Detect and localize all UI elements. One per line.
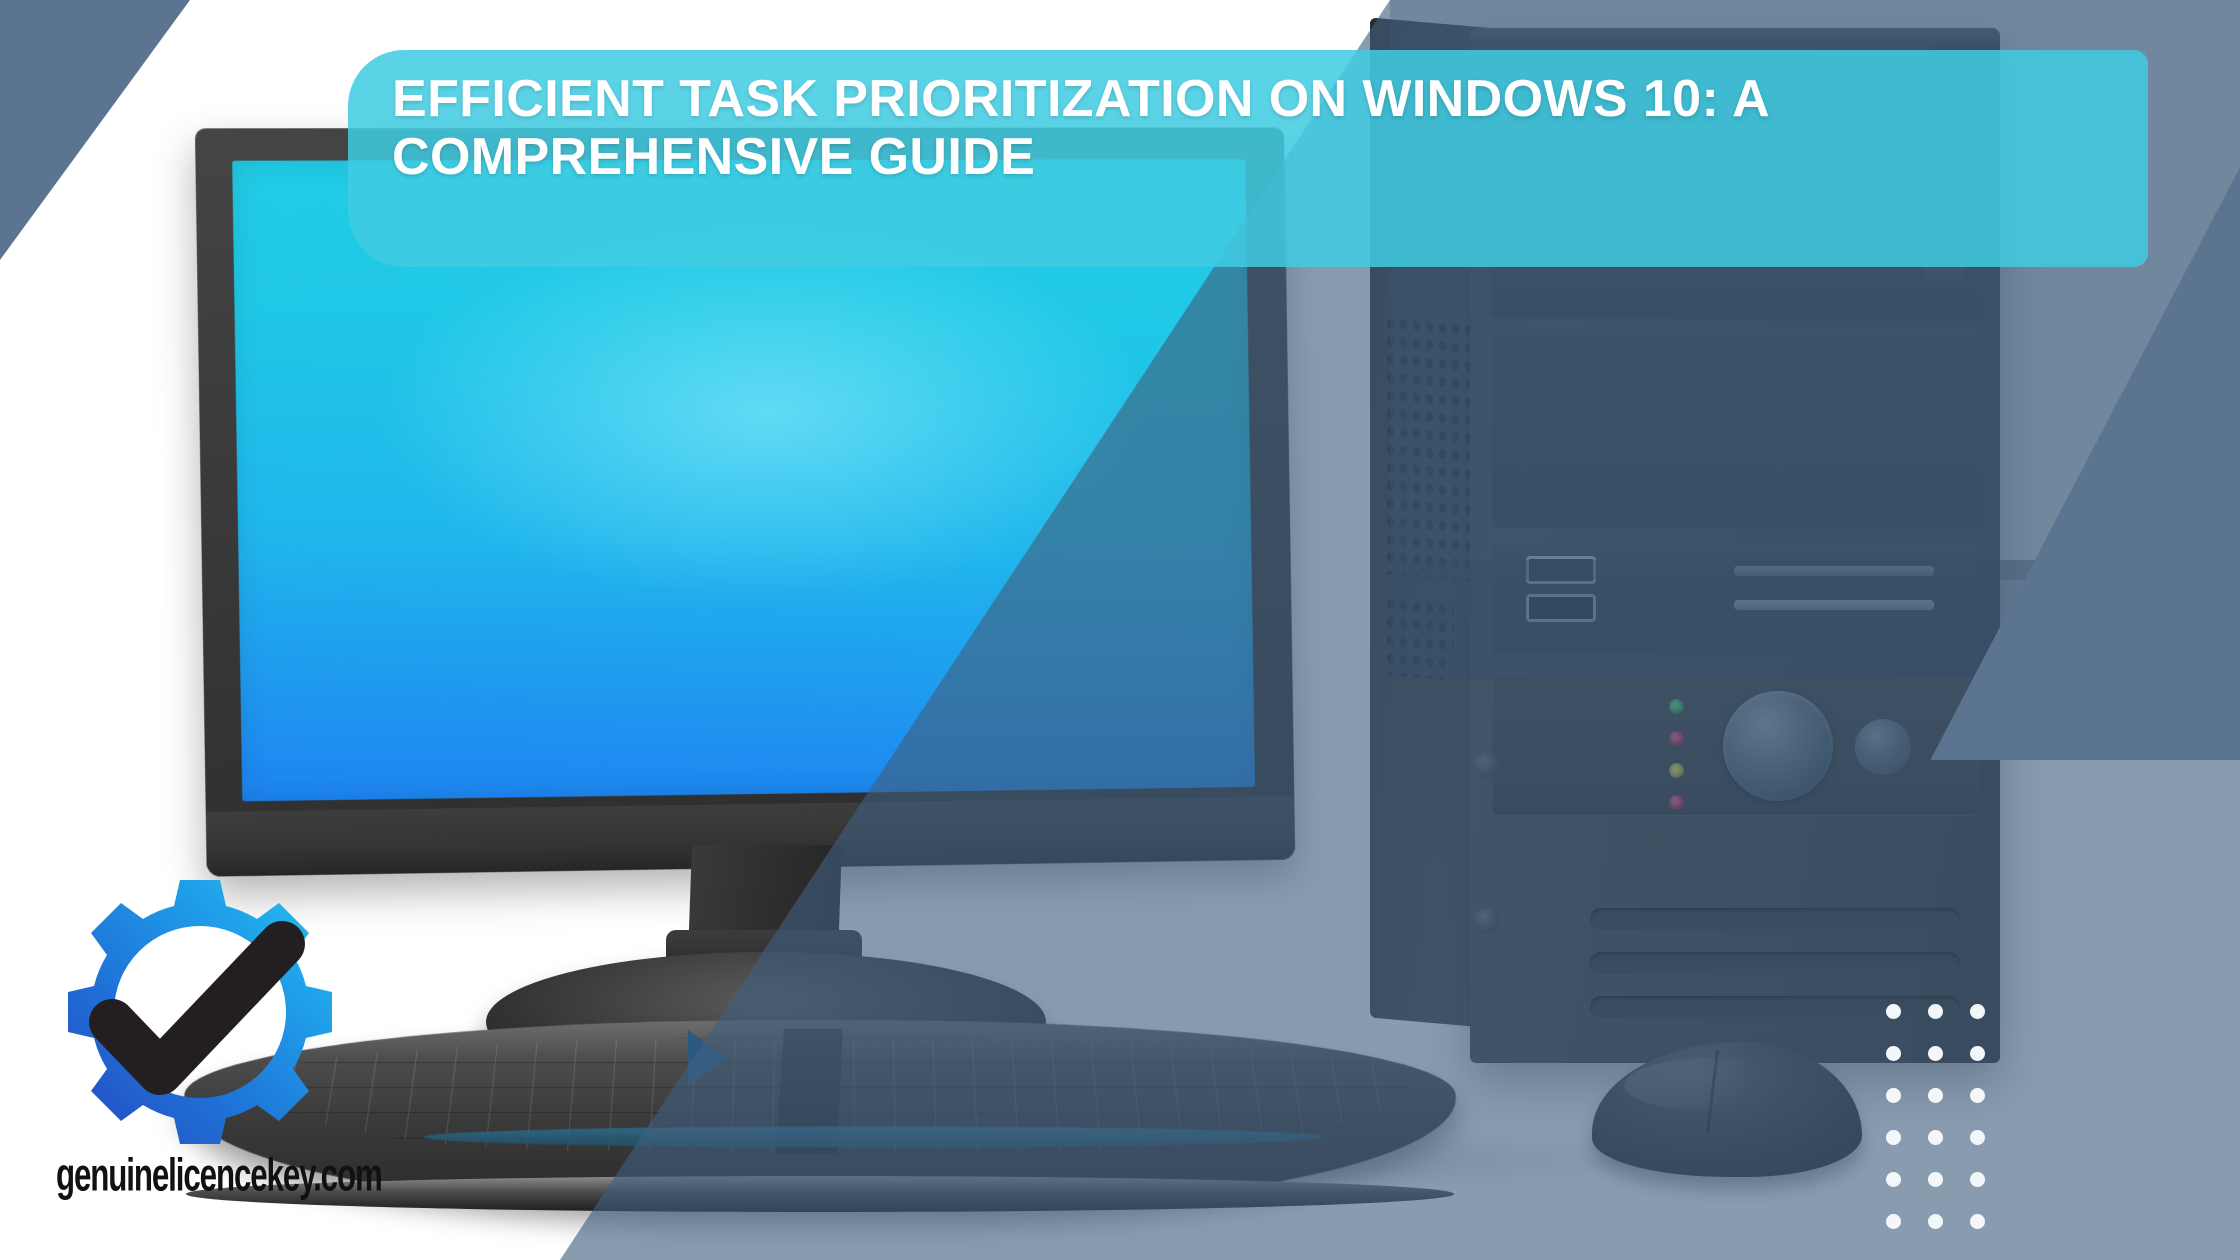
- audio-jack-strip: [1734, 566, 1934, 576]
- tower-vent-mesh-lower: [1384, 595, 1454, 681]
- gear-check-icon: [50, 862, 350, 1162]
- tower-screw: [1474, 752, 1500, 778]
- power-button[interactable]: [1723, 691, 1833, 801]
- tower-io-ports: [1492, 544, 1978, 654]
- tower-screw: [1474, 908, 1500, 934]
- tower-bottom-vents: [1590, 908, 1960, 1040]
- arrow-icon: [688, 1030, 728, 1086]
- title-banner: EFFICIENT TASK PRIORITIZATION ON WINDOWS…: [348, 50, 2148, 267]
- watermark-site-label: genuinelicencekey.com: [56, 1150, 382, 1203]
- page-title: EFFICIENT TASK PRIORITIZATION ON WINDOWS…: [392, 70, 1952, 186]
- monitor-power-led-icon: [1222, 823, 1238, 833]
- computer-mouse: [1592, 1042, 1862, 1177]
- tower-control-panel: [1492, 676, 1978, 816]
- tower-vent-mesh: [1384, 314, 1474, 582]
- reset-button[interactable]: [1855, 719, 1911, 775]
- audio-jack-strip: [1734, 600, 1934, 610]
- usb-port-icon: [1526, 556, 1596, 584]
- keyboard-accent-strip: [422, 1126, 1323, 1147]
- usb-port-icon: [1526, 594, 1596, 622]
- poster-canvas: EFFICIENT TASK PRIORITIZATION ON WINDOWS…: [0, 0, 2240, 1260]
- status-led-group: [1669, 699, 1684, 827]
- tower-blank-panel: [1492, 328, 1978, 528]
- site-watermark: genuinelicencekey.com: [50, 862, 390, 1222]
